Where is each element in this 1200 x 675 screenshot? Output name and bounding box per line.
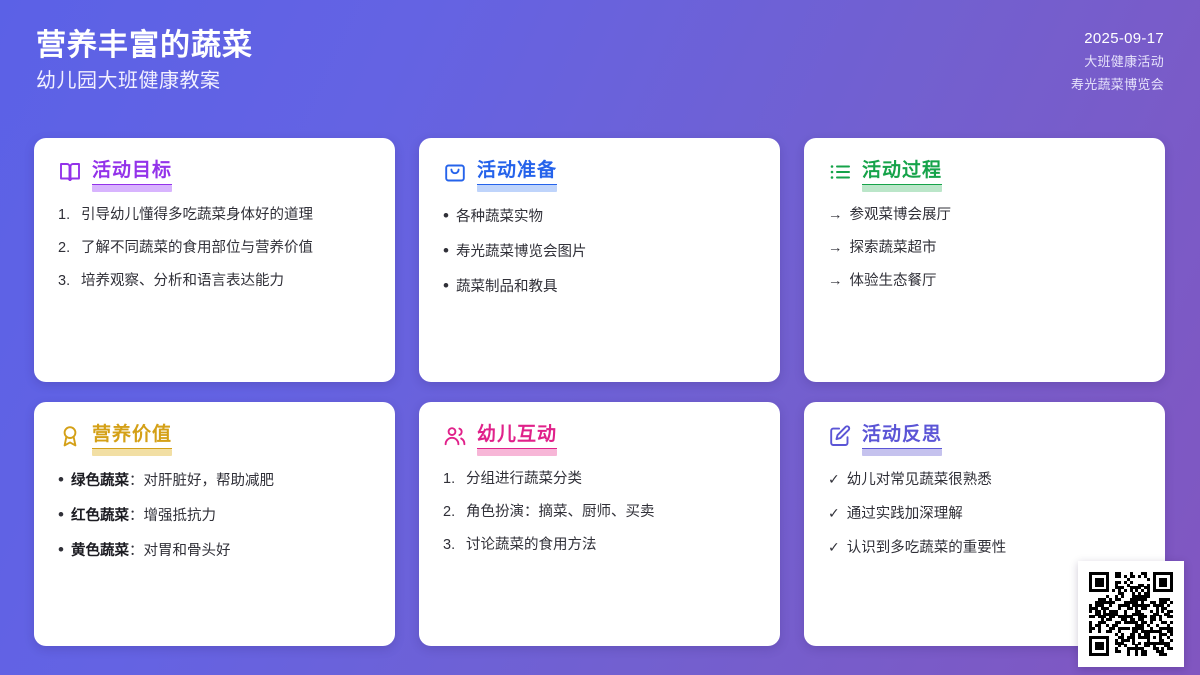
list-item-marker: 3. [443,535,459,556]
card-title-wrap: 活动准备 [477,160,557,185]
card-title-wrap: 活动反思 [862,424,942,449]
list-item-text: 蔬菜制品和教具 [456,277,756,298]
list-item-marker: ✓ [828,469,840,489]
list-item-marker: • [443,275,449,296]
card-item-list: 1.分组进行蔬菜分类2.角色扮演：摘菜、厨师、买卖3.讨论蔬菜的食用方法 [443,469,756,556]
header-title-block: 营养丰富的蔬菜 幼儿园大班健康教案 [36,29,253,94]
list-item-marker: • [443,240,449,261]
list-item-text: 参观菜博会展厅 [850,205,1142,226]
card-title-wrap: 活动目标 [92,160,172,185]
card-activity-goals: 活动目标1.引导幼儿懂得多吃蔬菜身体好的道理2.了解不同蔬菜的食用部位与营养价值… [34,138,395,382]
book-icon [58,160,82,184]
card-header: 活动反思 [828,424,1141,449]
list-item-text: 幼儿对常见蔬菜很熟悉 [847,470,1141,491]
card-activity-preparation: 活动准备•各种蔬菜实物•寿光蔬菜博览会图片•蔬菜制品和教具 [419,138,780,382]
card-item-list: •绿色蔬菜：对肝脏好，帮助减肥•红色蔬菜：增强抵抗力•黄色蔬菜：对胃和骨头好 [58,469,371,562]
shopping-bag-icon [443,160,467,184]
list-item-marker: → [828,271,843,292]
list-item-text: 各种蔬菜实物 [456,207,756,228]
card-grid: 活动目标1.引导幼儿懂得多吃蔬菜身体好的道理2.了解不同蔬菜的食用部位与营养价值… [34,138,1166,646]
page-subtitle: 幼儿园大班健康教案 [36,69,253,93]
list-item-marker: 1. [58,205,74,226]
list-item-label: 红色蔬菜 [71,508,129,524]
card-title-highlight [92,449,172,456]
card-title: 活动准备 [477,160,557,185]
award-icon [58,424,82,448]
card-title-highlight [477,185,557,192]
list-item: ✓通过实践加深理解 [828,503,1141,525]
card-header: 活动目标 [58,160,371,185]
card-header: 营养价值 [58,424,371,449]
list-item: •蔬菜制品和教具 [443,275,756,298]
card-item-list: 1.引导幼儿懂得多吃蔬菜身体好的道理2.了解不同蔬菜的食用部位与营养价值3.培养… [58,205,371,292]
card-title: 活动目标 [92,160,172,185]
list-item-marker: • [58,539,64,560]
list-icon [828,160,852,184]
card-title: 活动过程 [862,160,942,185]
list-item-text: 引导幼儿懂得多吃蔬菜身体好的道理 [81,205,371,226]
card-header: 活动准备 [443,160,756,185]
list-item: →探索蔬菜超市 [828,238,1141,259]
list-item: •红色蔬菜：增强抵抗力 [58,504,371,527]
list-item-text: 分组进行蔬菜分类 [466,469,756,490]
list-item: •各种蔬菜实物 [443,205,756,228]
card-activity-process: 活动过程→参观菜博会展厅→探索蔬菜超市→体验生态餐厅 [804,138,1165,382]
list-item-text: 了解不同蔬菜的食用部位与营养价值 [81,238,371,259]
list-item-text: 红色蔬菜：增强抵抗力 [71,506,371,527]
list-item-detail: ：对胃和骨头好 [129,543,231,559]
header-meta-line-1: 大班健康活动 [1084,51,1164,70]
list-item-text: 黄色蔬菜：对胃和骨头好 [71,541,371,562]
list-item-marker: • [58,504,64,525]
list-item: 2.了解不同蔬菜的食用部位与营养价值 [58,238,371,259]
header-meta-line-2: 寿光蔬菜博览会 [1071,74,1164,93]
list-item: 1.引导幼儿懂得多吃蔬菜身体好的道理 [58,205,371,226]
card-title-highlight [477,449,557,456]
list-item-text: 角色扮演：摘菜、厨师、买卖 [466,502,756,523]
card-title-highlight [862,449,942,456]
list-item-label: 黄色蔬菜 [71,543,129,559]
card-title-highlight [862,185,942,192]
card-title-wrap: 营养价值 [92,424,172,449]
list-item: •寿光蔬菜博览会图片 [443,240,756,263]
list-item-marker: 2. [443,502,459,523]
list-item: 3.讨论蔬菜的食用方法 [443,535,756,556]
card-title: 营养价值 [92,424,172,449]
list-item-text: 培养观察、分析和语言表达能力 [81,271,371,292]
list-item: ✓幼儿对常见蔬菜很熟悉 [828,469,1141,491]
list-item-marker: 1. [443,469,459,490]
users-icon [443,424,467,448]
list-item: 2.角色扮演：摘菜、厨师、买卖 [443,502,756,523]
card-children-interaction: 幼儿互动1.分组进行蔬菜分类2.角色扮演：摘菜、厨师、买卖3.讨论蔬菜的食用方法 [419,402,780,646]
list-item-marker: → [828,238,843,259]
list-item-text: 体验生态餐厅 [850,271,1142,292]
list-item-detail: ：对肝脏好，帮助减肥 [129,473,274,489]
edit-square-icon [828,424,852,448]
card-title-wrap: 活动过程 [862,160,942,185]
card-item-list: →参观菜博会展厅→探索蔬菜超市→体验生态餐厅 [828,205,1141,292]
list-item-detail: ：增强抵抗力 [129,508,216,524]
list-item-marker: ✓ [828,503,840,523]
list-item: ✓认识到多吃蔬菜的重要性 [828,537,1141,559]
list-item-marker: → [828,205,843,226]
qr-code [1089,572,1173,656]
list-item: →参观菜博会展厅 [828,205,1141,226]
list-item-text: 寿光蔬菜博览会图片 [456,242,756,263]
slide-canvas: 营养丰富的蔬菜 幼儿园大班健康教案 2025-09-17 大班健康活动 寿光蔬菜… [0,0,1200,675]
list-item-text: 通过实践加深理解 [847,504,1141,525]
list-item-marker: • [58,469,64,490]
list-item-text: 绿色蔬菜：对肝脏好，帮助减肥 [71,471,371,492]
list-item: •绿色蔬菜：对肝脏好，帮助减肥 [58,469,371,492]
list-item: 1.分组进行蔬菜分类 [443,469,756,490]
card-title-highlight [92,185,172,192]
list-item-text: 认识到多吃蔬菜的重要性 [847,538,1141,559]
list-item: 3.培养观察、分析和语言表达能力 [58,271,371,292]
card-title: 活动反思 [862,424,942,449]
list-item: •黄色蔬菜：对胃和骨头好 [58,539,371,562]
list-item-text: 探索蔬菜超市 [850,238,1142,259]
list-item-marker: ✓ [828,537,840,557]
list-item-marker: 2. [58,238,74,259]
card-title: 幼儿互动 [477,424,557,449]
card-item-list: ✓幼儿对常见蔬菜很熟悉✓通过实践加深理解✓认识到多吃蔬菜的重要性 [828,469,1141,559]
list-item-label: 绿色蔬菜 [71,473,129,489]
list-item-marker: 3. [58,271,74,292]
page-title: 营养丰富的蔬菜 [36,29,253,64]
card-header: 幼儿互动 [443,424,756,449]
qr-code-panel [1078,561,1184,667]
list-item: →体验生态餐厅 [828,271,1141,292]
list-item-text: 讨论蔬菜的食用方法 [466,535,756,556]
list-item-marker: • [443,205,449,226]
card-nutrition-value: 营养价值•绿色蔬菜：对肝脏好，帮助减肥•红色蔬菜：增强抵抗力•黄色蔬菜：对胃和骨… [34,402,395,646]
header-meta-block: 2025-09-17 大班健康活动 寿光蔬菜博览会 [1071,30,1164,93]
slide-header: 营养丰富的蔬菜 幼儿园大班健康教案 2025-09-17 大班健康活动 寿光蔬菜… [0,0,1200,122]
card-item-list: •各种蔬菜实物•寿光蔬菜博览会图片•蔬菜制品和教具 [443,205,756,298]
header-date: 2025-09-17 [1084,30,1164,47]
card-header: 活动过程 [828,160,1141,185]
card-title-wrap: 幼儿互动 [477,424,557,449]
